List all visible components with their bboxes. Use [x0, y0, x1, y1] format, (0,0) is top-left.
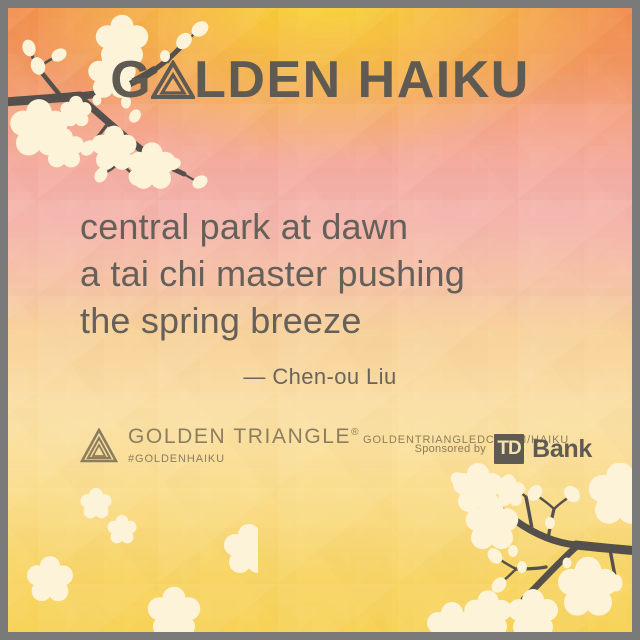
sponsor-label: Sponsored by	[415, 443, 486, 455]
haiku-line-1: central park at dawn	[80, 204, 465, 251]
footer: GOLDEN TRIANGLE® GOLDENTRIANGLEDC.COM/HA…	[80, 426, 592, 490]
triangle-logo-glyph-icon	[151, 60, 195, 100]
title-text-before: G	[110, 51, 152, 109]
td-logo-icon: TD	[494, 434, 524, 464]
poem-author: — Chen-ou Liu	[8, 364, 632, 390]
haiku-poem: central park at dawn a tai chi master pu…	[80, 204, 465, 344]
brand-name: GOLDEN TRIANGLE®	[128, 425, 359, 448]
registered-trademark-symbol: ®	[351, 427, 358, 438]
haiku-poster: G LDEN HAIKU central park at dawn a tai …	[0, 0, 640, 640]
nested-triangle-logo-icon	[80, 428, 118, 464]
title-text-after: LDEN HAIKU	[194, 51, 530, 109]
brand-hashtag[interactable]: #GOLDENHAIKU	[128, 453, 225, 465]
haiku-line-2: a tai chi master pushing	[80, 251, 465, 298]
haiku-line-3: the spring breeze	[80, 298, 465, 345]
sponsor-lockup[interactable]: Sponsored by TD Bank	[415, 434, 592, 464]
brand-name-text: GOLDEN TRIANGLE	[128, 425, 351, 448]
sponsor-name: Bank	[532, 435, 592, 464]
content-layer: G LDEN HAIKU central park at dawn a tai …	[8, 8, 632, 632]
page-title: G LDEN HAIKU	[8, 54, 632, 106]
